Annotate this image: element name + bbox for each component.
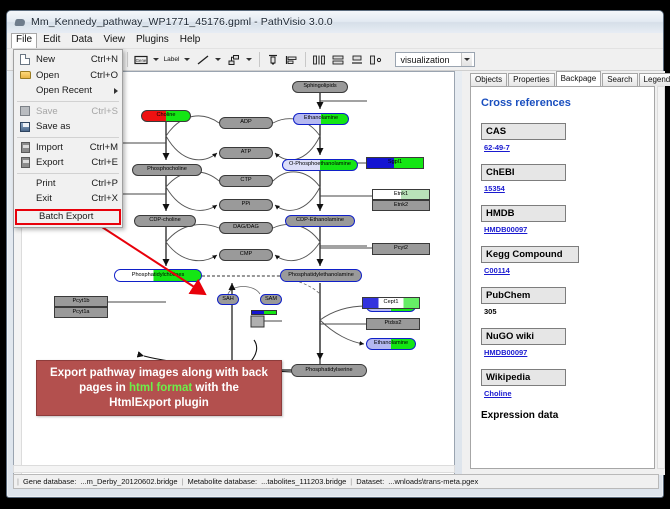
- file-menu-batch-export[interactable]: Batch Export: [15, 209, 121, 225]
- node-ethanolamine-2[interactable]: Ethanolamine: [366, 338, 416, 350]
- xref-header-wikipedia: Wikipedia: [481, 369, 566, 386]
- node-o-phosphoethanolamine[interactable]: O-Phosphoethanolamine: [282, 159, 358, 171]
- xref-header-chebi: ChEBI: [481, 164, 566, 181]
- xref-header-kegg: Kegg Compound: [481, 246, 579, 263]
- xref-value-pubchem: 305: [481, 307, 644, 316]
- gene-pcyt1a[interactable]: Pcyt1a: [54, 307, 108, 318]
- gene-pcyt2[interactable]: Pcyt2: [372, 243, 430, 255]
- toolbar-divider-2: [259, 52, 260, 67]
- node-choline-top[interactable]: Choline: [141, 110, 191, 122]
- file-menu-open[interactable]: Open Ctrl+O: [14, 68, 122, 84]
- gene-cept1[interactable]: Cept1: [362, 297, 420, 309]
- distribute-vertical-tool-icon[interactable]: [330, 52, 346, 68]
- tab-backpage[interactable]: Backpage: [556, 71, 602, 87]
- tab-legend[interactable]: Legend: [639, 73, 670, 87]
- visualization-chevron-down-icon[interactable]: [461, 53, 472, 66]
- file-menu-print[interactable]: Print Ctrl+P: [14, 176, 122, 192]
- menu-file[interactable]: File: [11, 33, 37, 48]
- menu-view[interactable]: View: [98, 33, 130, 48]
- line-tool-icon[interactable]: [195, 52, 211, 68]
- export-icon: [18, 156, 32, 169]
- datanode-dropdown-icon[interactable]: [152, 52, 161, 68]
- line-dropdown-icon[interactable]: [214, 52, 223, 68]
- batch-export-icon: [21, 210, 35, 223]
- import-icon: [18, 141, 32, 154]
- tab-properties[interactable]: Properties: [508, 73, 554, 87]
- node-sah[interactable]: SAH: [217, 294, 239, 305]
- xref-header-hmdb: HMDB: [481, 205, 566, 222]
- tab-objects[interactable]: Objects: [470, 73, 507, 87]
- new-document-icon: [18, 53, 32, 66]
- node-ethanolamine[interactable]: Ethanolamine: [293, 113, 349, 125]
- status-dataset-label: Dataset:: [356, 477, 384, 486]
- menu-separator-1: [17, 101, 119, 102]
- label-tool-text: Label: [164, 56, 180, 63]
- node-dag[interactable]: DAG/DAG: [219, 222, 273, 234]
- annotation-line2-pre: pages in: [79, 382, 129, 394]
- annotation-highlight: html format: [129, 382, 192, 394]
- menu-help[interactable]: Help: [175, 33, 206, 48]
- side-panel-scrollbar[interactable]: [657, 86, 665, 469]
- visualization-value: visualization: [401, 55, 450, 65]
- xref-value-kegg[interactable]: C00114: [481, 266, 644, 275]
- xref-header-pubchem: PubChem: [481, 287, 566, 304]
- status-divider-0: |: [17, 477, 19, 486]
- svg-text:Gene: Gene: [135, 58, 146, 63]
- distribute-horizontal-tool-icon[interactable]: [311, 52, 327, 68]
- status-gene-database-label: Gene database:: [23, 477, 76, 486]
- cross-references-heading: Cross references: [481, 97, 644, 109]
- save-disabled-icon: [18, 105, 32, 118]
- save-as-icon: [18, 120, 32, 133]
- file-menu-exit[interactable]: Exit Ctrl+X: [14, 191, 122, 207]
- node-phosphatidylethanolamine[interactable]: Phosphatidylethanolamine: [280, 269, 362, 282]
- node-atp[interactable]: ATP: [219, 147, 273, 159]
- application-window: Mm_Kennedy_pathway_WP1771_45176.gpml - P…: [6, 10, 664, 498]
- xref-value-nugo[interactable]: HMDB00097: [481, 348, 644, 357]
- datanode-tool-icon[interactable]: Gene: [133, 52, 149, 68]
- label-tool-icon[interactable]: Label: [164, 52, 180, 68]
- window-title: Mm_Kennedy_pathway_WP1771_45176.gpml - P…: [31, 16, 333, 28]
- status-metabolite-database-label: Metabolite database:: [187, 477, 257, 486]
- open-folder-icon: [18, 69, 32, 82]
- annotation-callout: Export pathway images along with back pa…: [36, 360, 282, 416]
- interaction-tool-icon[interactable]: [226, 52, 242, 68]
- tab-search[interactable]: Search: [602, 73, 637, 87]
- annotation-line1: Export pathway images along with back: [50, 366, 268, 381]
- menu-separator-2: [17, 137, 119, 138]
- status-divider-1: |: [182, 477, 184, 486]
- backpage-content: Cross references CAS 62-49-7 ChEBI 15354…: [470, 86, 655, 469]
- status-divider-2: |: [350, 477, 352, 486]
- node-cdp-choline[interactable]: CDP-choline: [134, 215, 196, 227]
- open-recent-icon: [18, 84, 32, 97]
- expression-data-heading: Expression data: [481, 410, 644, 421]
- label-dropdown-icon[interactable]: [183, 52, 192, 68]
- xref-value-cas[interactable]: 62-49-7: [481, 143, 644, 152]
- exit-icon: [18, 192, 32, 205]
- menu-edit[interactable]: Edit: [38, 33, 65, 48]
- status-dataset-value: ...wnloads\trans-meta.pgex: [388, 477, 478, 486]
- xref-value-chebi[interactable]: 15354: [481, 184, 644, 193]
- status-gene-database-value: ...m_Derby_20120602.bridge: [80, 477, 177, 486]
- file-menu-dropdown[interactable]: New Ctrl+N Open Ctrl+O Open Recent Save …: [13, 49, 123, 228]
- gene-etnk2[interactable]: Etnk2: [372, 200, 430, 211]
- xref-header-nugo: NuGO wiki: [481, 328, 566, 345]
- node-adp[interactable]: ADP: [219, 117, 273, 129]
- visualization-combobox[interactable]: visualization: [395, 52, 475, 67]
- node-phosphatidylserine[interactable]: Phosphatidylserine: [291, 364, 367, 377]
- align-left-tool-icon[interactable]: [284, 52, 300, 68]
- menu-separator-3: [17, 173, 119, 174]
- annotation-line2: pages in html format with the: [79, 381, 239, 396]
- pathvisio-icon: [14, 16, 26, 28]
- gene-etnk1[interactable]: Etnk1: [372, 189, 430, 200]
- side-panel: Objects Properties Backpage Search Legen…: [462, 71, 665, 475]
- submenu-arrow-icon: [114, 88, 118, 94]
- file-menu-save-as[interactable]: Save as: [14, 119, 122, 135]
- node-phosphatidylcholines[interactable]: Phosphatidylcholines: [114, 269, 202, 282]
- menu-plugins[interactable]: Plugins: [131, 33, 174, 48]
- file-menu-export[interactable]: Export Ctrl+E: [14, 155, 122, 171]
- node-phosphocholine[interactable]: Phosphocholine: [132, 164, 202, 176]
- gene-sgpl1[interactable]: Sgpl1: [366, 157, 424, 169]
- bring-front-tool-icon[interactable]: [368, 52, 384, 68]
- file-menu-open-recent[interactable]: Open Recent: [14, 83, 122, 99]
- status-bar: | Gene database: ...m_Derby_20120602.bri…: [13, 474, 659, 489]
- file-menu-import[interactable]: Import Ctrl+M: [14, 140, 122, 156]
- expression-color-strip: [251, 310, 277, 315]
- title-bar: Mm_Kennedy_pathway_WP1771_45176.gpml - P…: [7, 11, 663, 33]
- toolbar-divider: [127, 52, 128, 67]
- annotation-line3: HtmlExport plugin: [109, 396, 209, 411]
- toolbar-divider-3: [305, 52, 306, 67]
- xref-value-wikipedia[interactable]: Choline: [481, 389, 644, 398]
- node-ppi[interactable]: PPi: [219, 199, 273, 211]
- node-cmp[interactable]: CMP: [219, 249, 273, 261]
- node-ctp[interactable]: CTP: [219, 175, 273, 187]
- same-width-tool-icon[interactable]: [349, 52, 365, 68]
- xref-value-hmdb[interactable]: HMDB00097: [481, 225, 644, 234]
- print-icon: [18, 177, 32, 190]
- node-sphingolipids[interactable]: Sphingolipids: [292, 81, 348, 93]
- file-menu-save: Save Ctrl+S: [14, 104, 122, 120]
- interaction-dropdown-icon[interactable]: [245, 52, 254, 68]
- side-panel-tabs: Objects Properties Backpage Search Legen…: [470, 71, 670, 86]
- gene-ptdss2[interactable]: Ptdss2: [366, 318, 420, 330]
- status-metabolite-database-value: ...tabolites_111203.bridge: [261, 477, 346, 486]
- node-sam[interactable]: SAM: [260, 294, 282, 305]
- align-top-tool-icon[interactable]: [265, 52, 281, 68]
- menu-bar: File Edit Data View Plugins Help: [7, 33, 663, 49]
- gene-pcyt1b[interactable]: Pcyt1b: [54, 296, 108, 307]
- menu-data[interactable]: Data: [66, 33, 97, 48]
- screenshot-root: Mm_Kennedy_pathway_WP1771_45176.gpml - P…: [0, 0, 670, 509]
- annotation-line2-post: with the: [192, 382, 239, 394]
- node-cdp-ethanolamine[interactable]: CDP-Ethanolamine: [285, 215, 355, 227]
- file-menu-new[interactable]: New Ctrl+N: [14, 52, 122, 68]
- xref-header-cas: CAS: [481, 123, 566, 140]
- canvas-horizontal-scrollbar[interactable]: [13, 465, 455, 473]
